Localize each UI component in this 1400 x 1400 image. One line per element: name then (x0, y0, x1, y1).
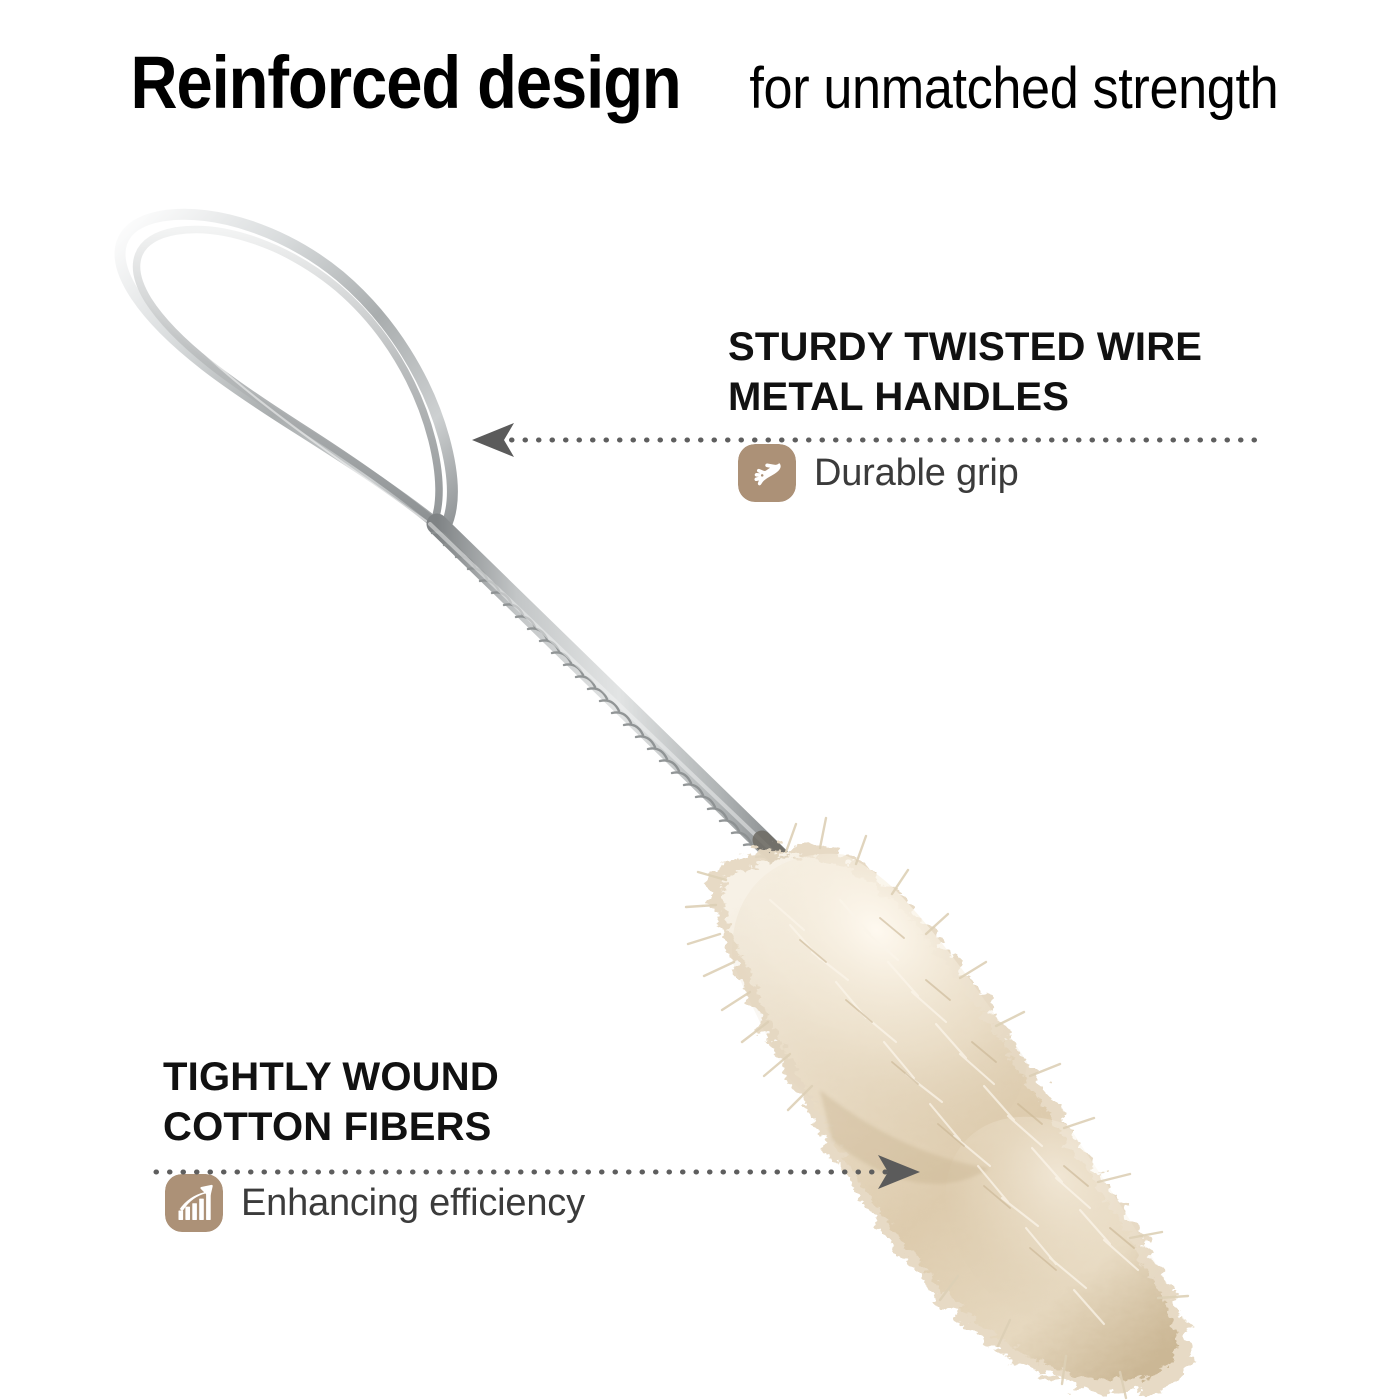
callout-title-fibers: TIGHTLY WOUND COTTON FIBERS (163, 1052, 783, 1152)
callout-sub-handles: Durable grip (738, 444, 1288, 502)
wire-loop-handle (120, 214, 452, 528)
page-title-strong: Reinforced design (130, 40, 680, 125)
callout-sturdy-twisted-wire-metal-handles: STURDY TWISTED WIRE METAL HANDLES Durabl… (728, 322, 1288, 502)
twisted-wire-shaft (430, 524, 812, 890)
callout-tightly-wound-cotton-fibers: TIGHTLY WOUND COTTON FIBERS Enhancing ef… (163, 1052, 783, 1232)
callout-title-handles: STURDY TWISTED WIRE METAL HANDLES (728, 322, 1288, 422)
infographic-canvas: Reinforced designfor unmatched strength … (0, 0, 1400, 1400)
leader-line-fibers (150, 1152, 930, 1192)
page-title: Reinforced designfor unmatched strength (0, 40, 1400, 125)
page-title-light: for unmatched strength (749, 55, 1278, 122)
hand-pinch-grip-icon (738, 444, 796, 502)
callout-sub-label-handles: Durable grip (814, 454, 1019, 492)
